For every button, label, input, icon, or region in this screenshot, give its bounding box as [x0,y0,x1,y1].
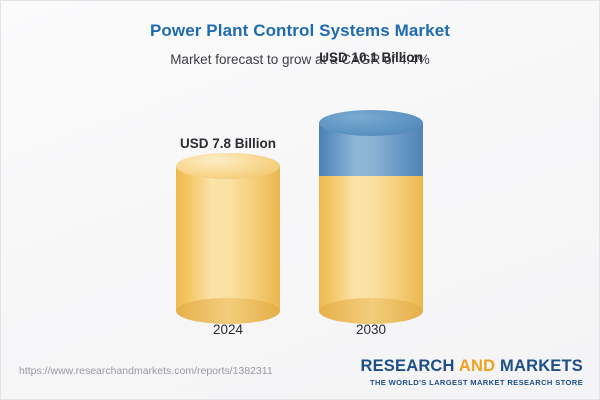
bar-cylinder-2030[interactable] [319,123,423,311]
bar-cylinder-2024[interactable] [176,166,280,311]
logo-wordmark: RESEARCH AND MARKETS [360,357,583,376]
chart-footer: https://www.researchandmarkets.com/repor… [1,349,599,399]
logo-tagline: THE WORLD'S LARGEST MARKET RESEARCH STOR… [360,378,583,387]
source-url[interactable]: https://www.researchandmarkets.com/repor… [19,365,273,377]
segment-bottom-cap [319,298,423,324]
logo-word-research: RESEARCH [360,357,454,375]
segment-bottom-cap [176,298,280,324]
bar-segment-base-2030 [319,176,423,311]
segment-top-cap [319,110,423,136]
x-axis-label-2030: 2030 [356,322,386,337]
bar-segment-base-2024 [176,166,280,311]
segment-body [176,166,280,311]
bar-group-2024: USD 7.8 Billion [176,166,280,311]
segment-top-cap [176,153,280,179]
research-and-markets-logo[interactable]: RESEARCH AND MARKETS THE WORLD'S LARGEST… [360,357,583,387]
bar-group-2030: USD 10.1 Billion [319,123,423,311]
x-axis-label-2024: 2024 [213,322,243,337]
market-forecast-chart-card: Power Plant Control Systems Market Marke… [0,0,600,400]
bar-segment-growth-2030 [319,123,423,176]
chart-plot-area: USD 7.8 Billion 2024 USD 10.1 Billion [1,1,600,349]
bar-value-label-2030: USD 10.1 Billion [319,50,423,65]
logo-word-and: AND [459,357,495,375]
segment-body [319,176,423,311]
logo-word-markets: MARKETS [500,357,583,375]
bar-value-label-2024: USD 7.8 Billion [180,136,276,151]
